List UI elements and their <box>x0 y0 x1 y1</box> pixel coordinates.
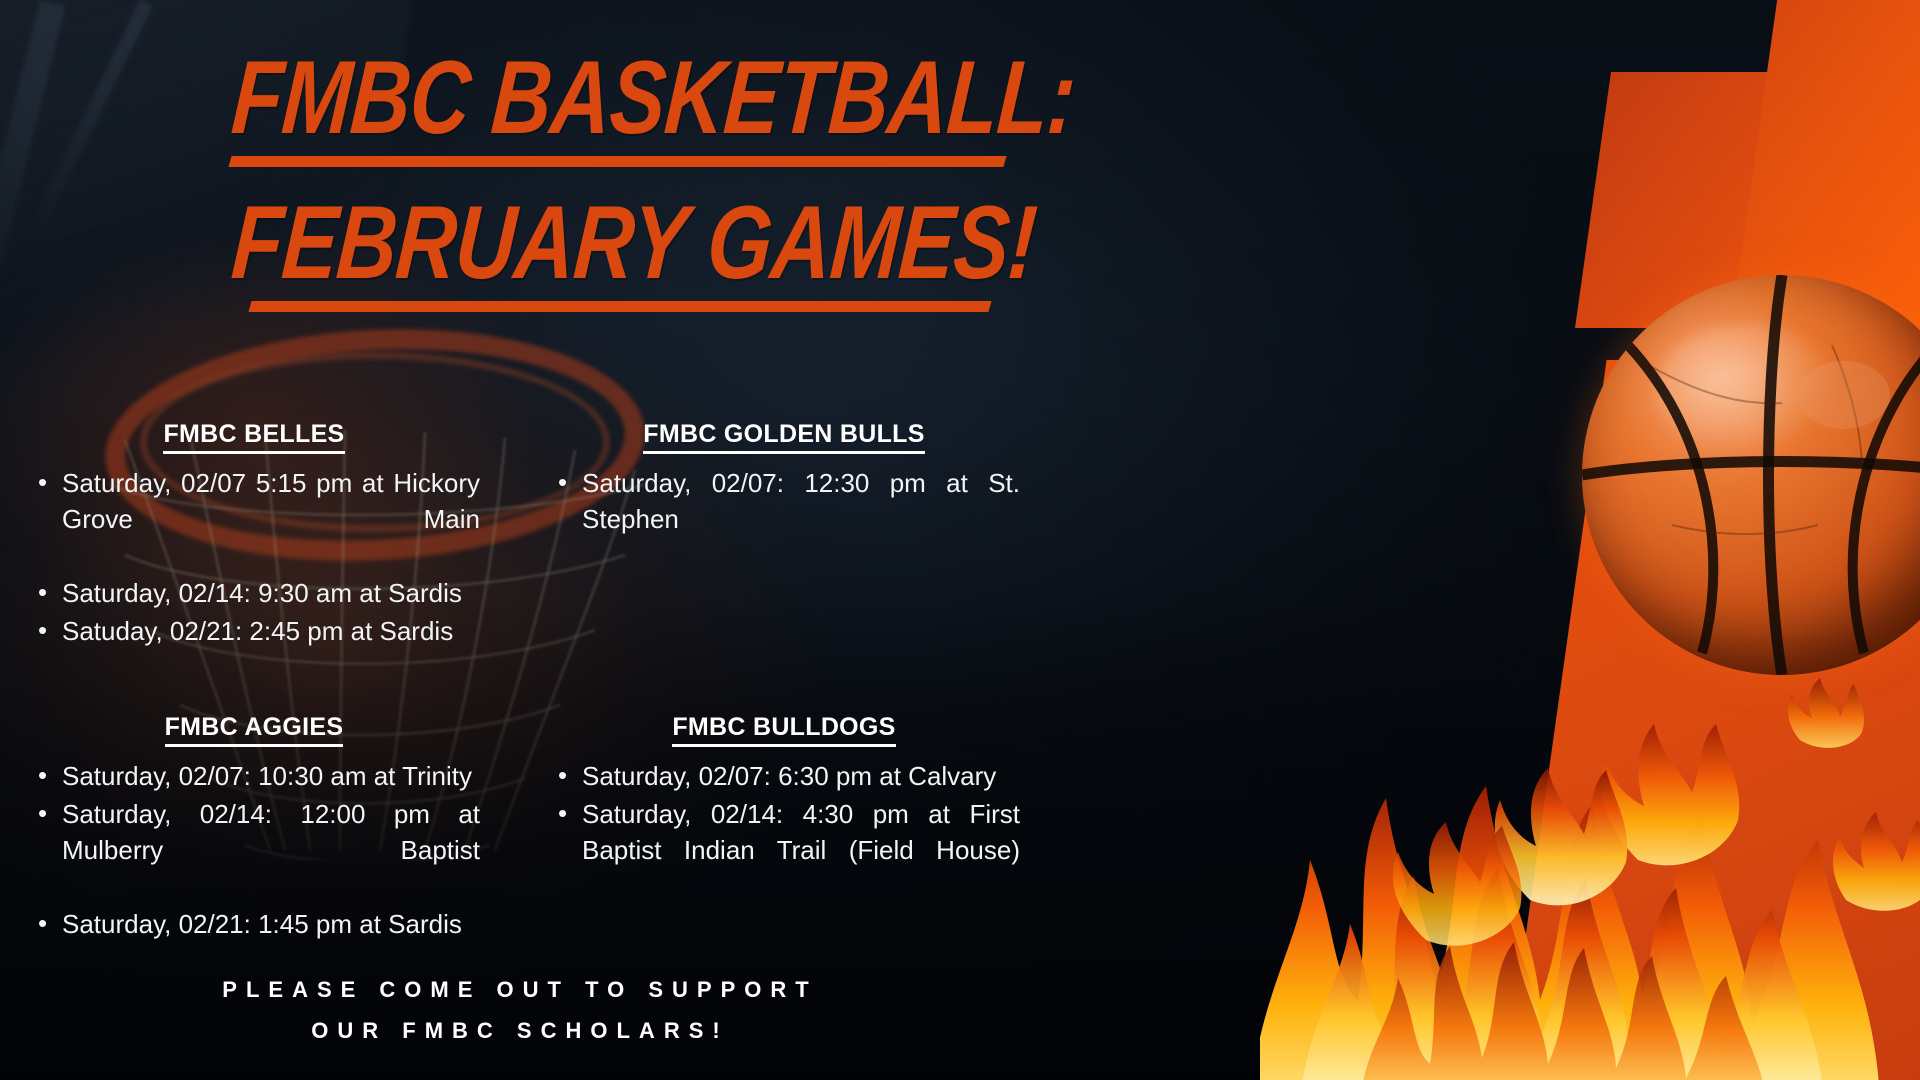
game-item: Saturday, 02/14: 12:00 pm at Mulberry Ba… <box>28 797 480 905</box>
flyer-canvas: FMBC BASKETBALL: FEBRUARY GAMES! FMBC BE… <box>0 0 1920 1080</box>
game-item: Saturday, 02/07: 12:30 pm at St. Stephen <box>548 466 1020 538</box>
right-graphic-panel <box>1260 0 1920 1080</box>
schedule-section: FMBC BELLES Saturday, 02/07 5:15 pm at H… <box>0 420 1040 945</box>
team-name-aggies: FMBC AGGIES <box>165 713 344 747</box>
game-item: Saturday, 02/07 5:15 pm at Hickory Grove… <box>28 466 480 574</box>
basketball-icon <box>1582 275 1920 675</box>
title-line-1: FMBC BASKETBALL: <box>229 48 1078 150</box>
team-block-bulldogs: FMBC BULLDOGS Saturday, 02/07: 6:30 pm a… <box>520 713 1040 944</box>
team-block-aggies: FMBC AGGIES Saturday, 02/07: 10:30 am at… <box>0 713 520 944</box>
game-item: Saturday, 02/14: 4:30 pm at First Baptis… <box>548 797 1020 905</box>
game-list-bulldogs: Saturday, 02/07: 6:30 pm at Calvary Satu… <box>548 759 1020 905</box>
schedule-row-top: FMBC BELLES Saturday, 02/07 5:15 pm at H… <box>0 420 1040 651</box>
team-heading-golden-bulls: FMBC GOLDEN BULLS <box>548 420 1020 454</box>
flyer-title: FMBC BASKETBALL: FEBRUARY GAMES! <box>236 48 1289 338</box>
game-list-golden-bulls: Saturday, 02/07: 12:30 pm at St. Stephen <box>548 466 1020 538</box>
title-underline-2 <box>248 301 991 312</box>
game-item: Satuday, 02/21: 2:45 pm at Sardis <box>28 614 480 650</box>
game-item: Saturday, 02/07: 6:30 pm at Calvary <box>548 759 1020 795</box>
team-name-bulldogs: FMBC BULLDOGS <box>672 713 895 747</box>
footer-line-2: OUR FMBC SCHOLARS! <box>0 1011 1040 1052</box>
footer-message: PLEASE COME OUT TO SUPPORT OUR FMBC SCHO… <box>0 970 1040 1051</box>
schedule-row-bottom: FMBC AGGIES Saturday, 02/07: 10:30 am at… <box>0 713 1040 944</box>
team-name-belles: FMBC BELLES <box>163 420 344 454</box>
game-item: Saturday, 02/07: 10:30 am at Trinity <box>28 759 480 795</box>
game-list-belles: Saturday, 02/07 5:15 pm at Hickory Grove… <box>28 466 480 649</box>
team-heading-bulldogs: FMBC BULLDOGS <box>548 713 1020 747</box>
team-heading-belles: FMBC BELLES <box>28 420 480 454</box>
game-list-aggies: Saturday, 02/07: 10:30 am at Trinity Sat… <box>28 759 480 942</box>
title-line-2: FEBRUARY GAMES! <box>229 193 1078 295</box>
team-block-belles: FMBC BELLES Saturday, 02/07 5:15 pm at H… <box>0 420 520 651</box>
footer-line-1: PLEASE COME OUT TO SUPPORT <box>0 970 1040 1011</box>
team-name-golden-bulls: FMBC GOLDEN BULLS <box>643 420 924 454</box>
game-item: Saturday, 02/14: 9:30 am at Sardis <box>28 576 480 612</box>
team-heading-aggies: FMBC AGGIES <box>28 713 480 747</box>
title-underline-1 <box>228 156 1006 167</box>
game-item: Saturday, 02/21: 1:45 pm at Sardis <box>28 907 480 943</box>
team-block-golden-bulls: FMBC GOLDEN BULLS Saturday, 02/07: 12:30… <box>520 420 1040 651</box>
